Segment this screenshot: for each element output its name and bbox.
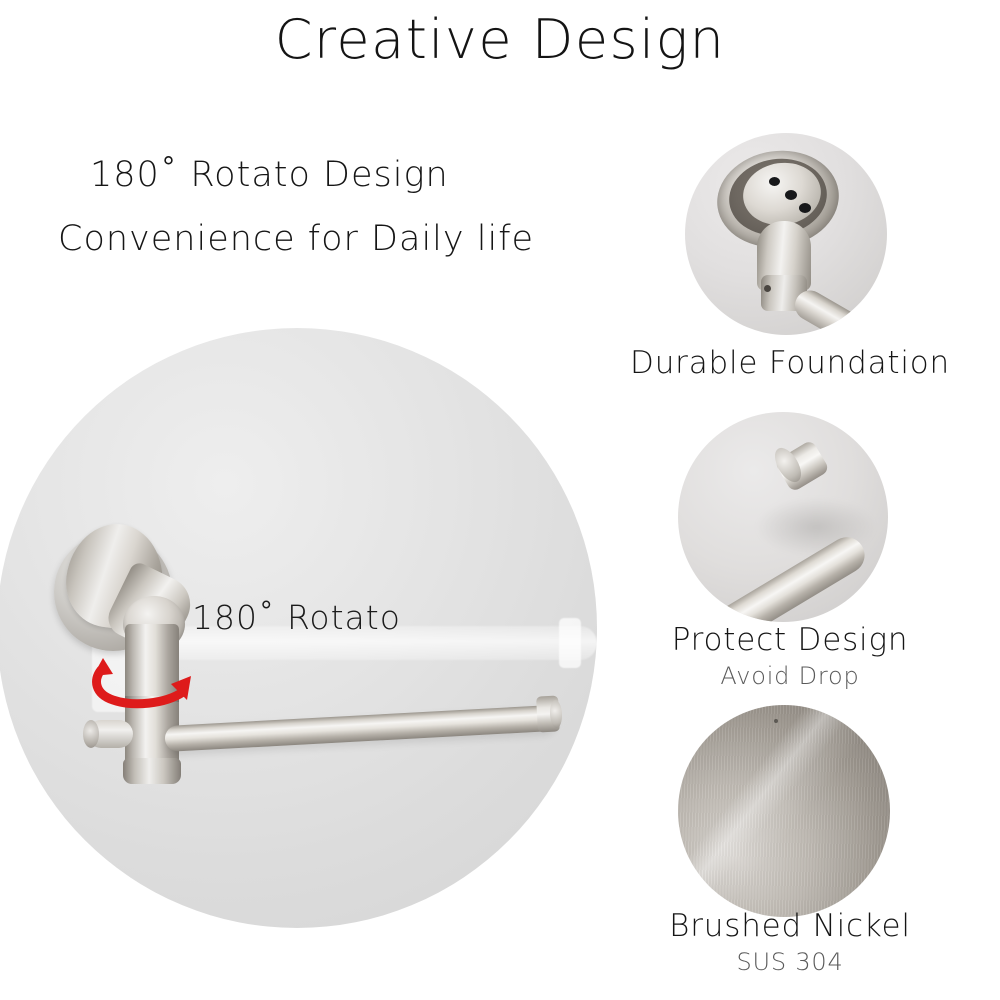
lead-line-1: 180˚ Rotato Design (58, 152, 618, 199)
screw-hole (769, 177, 780, 186)
feature-title: Brushed Nickel (590, 908, 990, 944)
feature-subtitle: Avoid Drop (590, 662, 990, 690)
page-title: Creative Design (0, 8, 1000, 71)
towel-rod (164, 705, 557, 752)
side-stub-cap (83, 720, 99, 748)
pivot-post-base (123, 758, 181, 784)
screw-hole (799, 203, 811, 213)
hero-label: 180˚ Rotato (192, 598, 401, 637)
feature-caption-protect-design: Protect Design Avoid Drop (590, 622, 990, 690)
base-set-screw (764, 285, 771, 292)
feature-image-protect-design (678, 412, 888, 622)
towel-rod-endcap-face (549, 700, 562, 729)
feature-image-brushed-nickel (678, 705, 890, 917)
lead-copy: 180˚ Rotato Design Convenience for Daily… (58, 152, 618, 264)
base-arm (790, 285, 886, 335)
feature-title: Protect Design (590, 622, 990, 658)
feature-subtitle: SUS 304 (590, 948, 990, 976)
feature-caption-durable-foundation: Durable Foundation (590, 345, 990, 381)
infographic-page: Creative Design 180˚ Rotato Design Conve… (0, 0, 1000, 1000)
ghost-rod-endcap (559, 618, 581, 668)
brush-texture (678, 705, 890, 917)
lead-line-2: Convenience for Daily life (58, 216, 618, 263)
rotation-arrow-icon (83, 650, 211, 720)
screw-hole (785, 190, 797, 200)
surface-speck (774, 719, 778, 723)
feature-image-durable-foundation (685, 133, 887, 335)
feature-caption-brushed-nickel: Brushed Nickel SUS 304 (590, 908, 990, 976)
feature-title: Durable Foundation (590, 345, 990, 381)
